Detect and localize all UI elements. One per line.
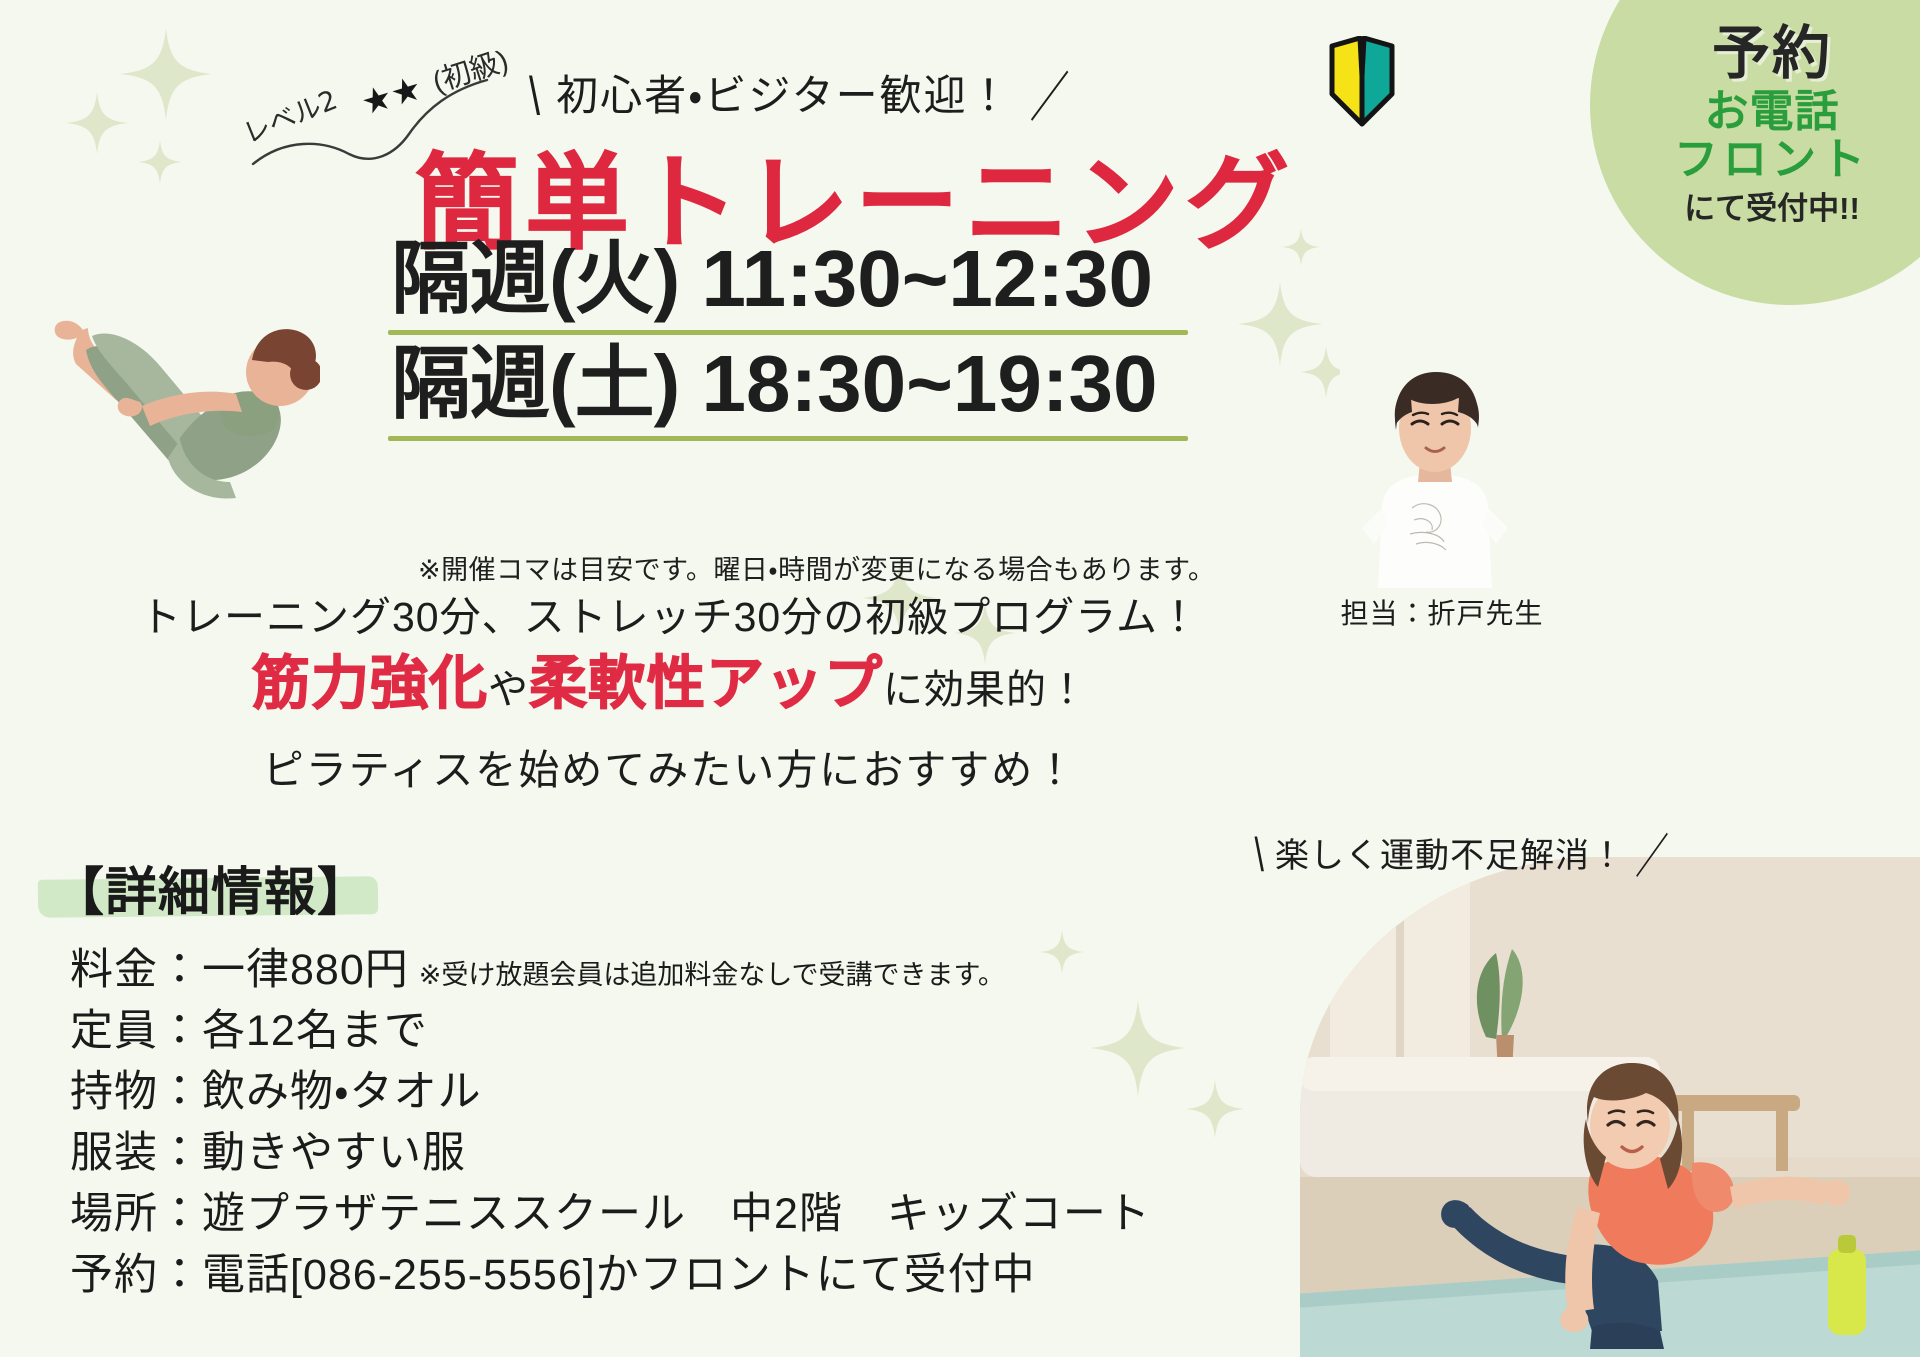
booking-reserve-label: 予約 xyxy=(1642,24,1902,85)
schedule-day: 隔週(土) xyxy=(391,339,679,428)
detail-row-reservation: 予約：電話[086-255-5556]かフロントにて受付中 xyxy=(70,1245,1250,1306)
sparkle-icon xyxy=(120,28,212,120)
details-heading: 【詳細情報】 xyxy=(52,850,370,925)
welcome-line: \初心者・ビジター歓迎！／ xyxy=(515,62,1086,123)
detail-row-capacity: 定員：各12名まで xyxy=(70,1001,1250,1062)
pilates-boat-pose-illustration xyxy=(30,288,320,513)
details-list: 料金：一律880円※受け放題会員は追加料金なしで受講できます。 定員：各12名ま… xyxy=(70,940,1250,1306)
beginner-leaf-mark-icon xyxy=(1326,36,1398,128)
schedule-divider xyxy=(388,330,1188,335)
schedule-day: 隔週(火) xyxy=(391,234,679,323)
sparkle-icon xyxy=(66,92,128,154)
detail-row-location: 場所：遊プラザテニススクール 中2階 キッズコート xyxy=(70,1184,1250,1245)
description-line-3: ピラティスを始めてみたい方におすすめ！ xyxy=(0,736,1340,796)
detail-text: 服装：動きやすい服 xyxy=(70,1129,466,1177)
instructor-caption: 担当：折戸先生 xyxy=(1322,592,1562,632)
detail-text: 場所：遊プラザテニススクール 中2階 キッズコート xyxy=(70,1190,1151,1238)
description-conjunction: や xyxy=(488,668,529,712)
schedule-time: 18:30~19:30 xyxy=(702,339,1158,428)
schedule-row: 隔週(火) 11:30~12:30 xyxy=(388,232,1188,326)
booking-front-label: フロント xyxy=(1642,137,1902,183)
instructor-photo xyxy=(1340,358,1530,588)
detail-text: 予約：電話[086-255-5556]かフロントにて受付中 xyxy=(70,1251,1036,1299)
booking-accepting-label: にて受付中!! xyxy=(1642,193,1902,226)
detail-note: ※受け放題会員は追加料金なしで受講できます。 xyxy=(419,960,1005,990)
bottom-photo-caption-text: 楽しく運動不足解消！ xyxy=(1275,837,1625,875)
description-line-2: 筋力強化や柔軟性アップに効果的！ xyxy=(0,645,1340,723)
detail-row-price: 料金：一律880円※受け放題会員は追加料金なしで受講できます。 xyxy=(70,940,1250,1001)
description-line-1: トレーニング30分、ストレッチ30分の初級プログラム！ xyxy=(0,592,1340,643)
booking-phone-label: お電話 xyxy=(1642,89,1902,135)
booking-info: 予約 お電話 フロント にて受付中!! xyxy=(1642,24,1902,226)
welcome-text: 初心者・ビジター歓迎！ xyxy=(556,72,1011,119)
bottom-photo xyxy=(1300,857,1920,1357)
detail-row-bring: 持物：飲み物・タオル xyxy=(70,1062,1250,1123)
schedule-time: 11:30~12:30 xyxy=(702,234,1154,323)
schedule-row: 隔週(土) 18:30~19:30 xyxy=(388,337,1188,431)
slash-left-icon: \ xyxy=(1255,829,1265,884)
sparkle-icon xyxy=(138,140,182,184)
detail-text: 料金：一律880円 xyxy=(70,946,409,994)
description-highlight-strength: 筋力強化 xyxy=(252,651,488,716)
schedule-note: ※開催コマは目安です。曜日・時間が変更になる場合もあります。 xyxy=(418,548,1215,587)
poster-root: 予約 お電話 フロント にて受付中!! レベル2 ★★ (初級) \初心者・ビジ… xyxy=(0,0,1920,1357)
description-block: トレーニング30分、ストレッチ30分の初級プログラム！ 筋力強化や柔軟性アップに… xyxy=(0,592,1340,796)
detail-text: 定員：各12名まで xyxy=(70,1007,428,1055)
slash-right-icon: ／ xyxy=(1635,818,1670,887)
schedule-divider xyxy=(388,436,1188,441)
detail-text: 持物：飲み物・タオル xyxy=(70,1068,482,1116)
schedule-block: 隔週(火) 11:30~12:30 隔週(土) 18:30~19:30 xyxy=(388,232,1188,443)
bottom-photo-caption: \楽しく運動不足解消！／ xyxy=(1245,828,1680,877)
description-effect-text: に効果的！ xyxy=(883,668,1088,712)
detail-row-clothing: 服装：動きやすい服 xyxy=(70,1123,1250,1184)
sparkle-icon xyxy=(1238,282,1322,366)
description-highlight-flexibility: 柔軟性アップ xyxy=(529,651,883,716)
